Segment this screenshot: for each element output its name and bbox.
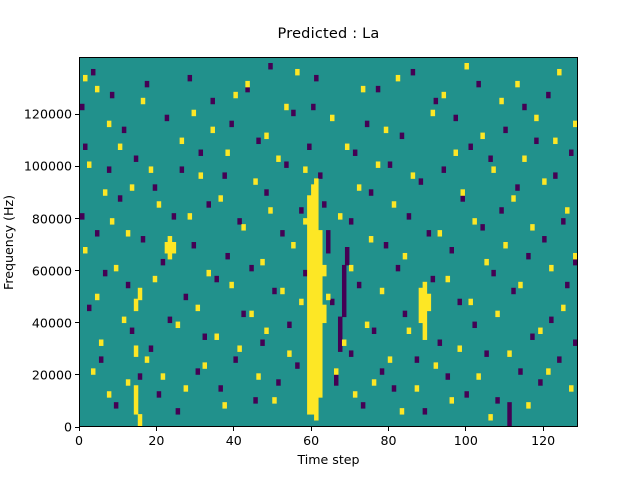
x-tick-label: 80 (380, 433, 396, 448)
x-tick-label: 0 (75, 433, 83, 448)
y-tick-mark (75, 166, 79, 167)
x-axis-label: Time step (79, 452, 578, 467)
y-tick-mark (75, 114, 79, 115)
spectrogram-heatmap (80, 58, 577, 426)
x-tick-mark (388, 427, 389, 431)
x-tick-mark (543, 427, 544, 431)
y-tick-mark (75, 427, 79, 428)
y-tick-mark (75, 374, 79, 375)
x-tick-label: 120 (531, 433, 555, 448)
x-tick-label: 100 (454, 433, 478, 448)
page-title: Predicted : La (79, 26, 578, 42)
x-tick-mark (311, 427, 312, 431)
heatmap-axes (79, 57, 578, 427)
matplotlib-figure: Predicted : La 020406080100120 020000400… (0, 0, 640, 480)
x-tick-label: 60 (303, 433, 319, 448)
y-axis-label: Frequency (Hz) (0, 57, 16, 427)
x-tick-label: 20 (148, 433, 164, 448)
x-tick-mark (465, 427, 466, 431)
y-tick-mark (75, 218, 79, 219)
y-tick-mark (75, 270, 79, 271)
x-tick-mark (156, 427, 157, 431)
x-tick-mark (233, 427, 234, 431)
y-tick-mark (75, 322, 79, 323)
x-tick-label: 40 (226, 433, 242, 448)
y-axis-label-text: Frequency (Hz) (1, 195, 16, 290)
